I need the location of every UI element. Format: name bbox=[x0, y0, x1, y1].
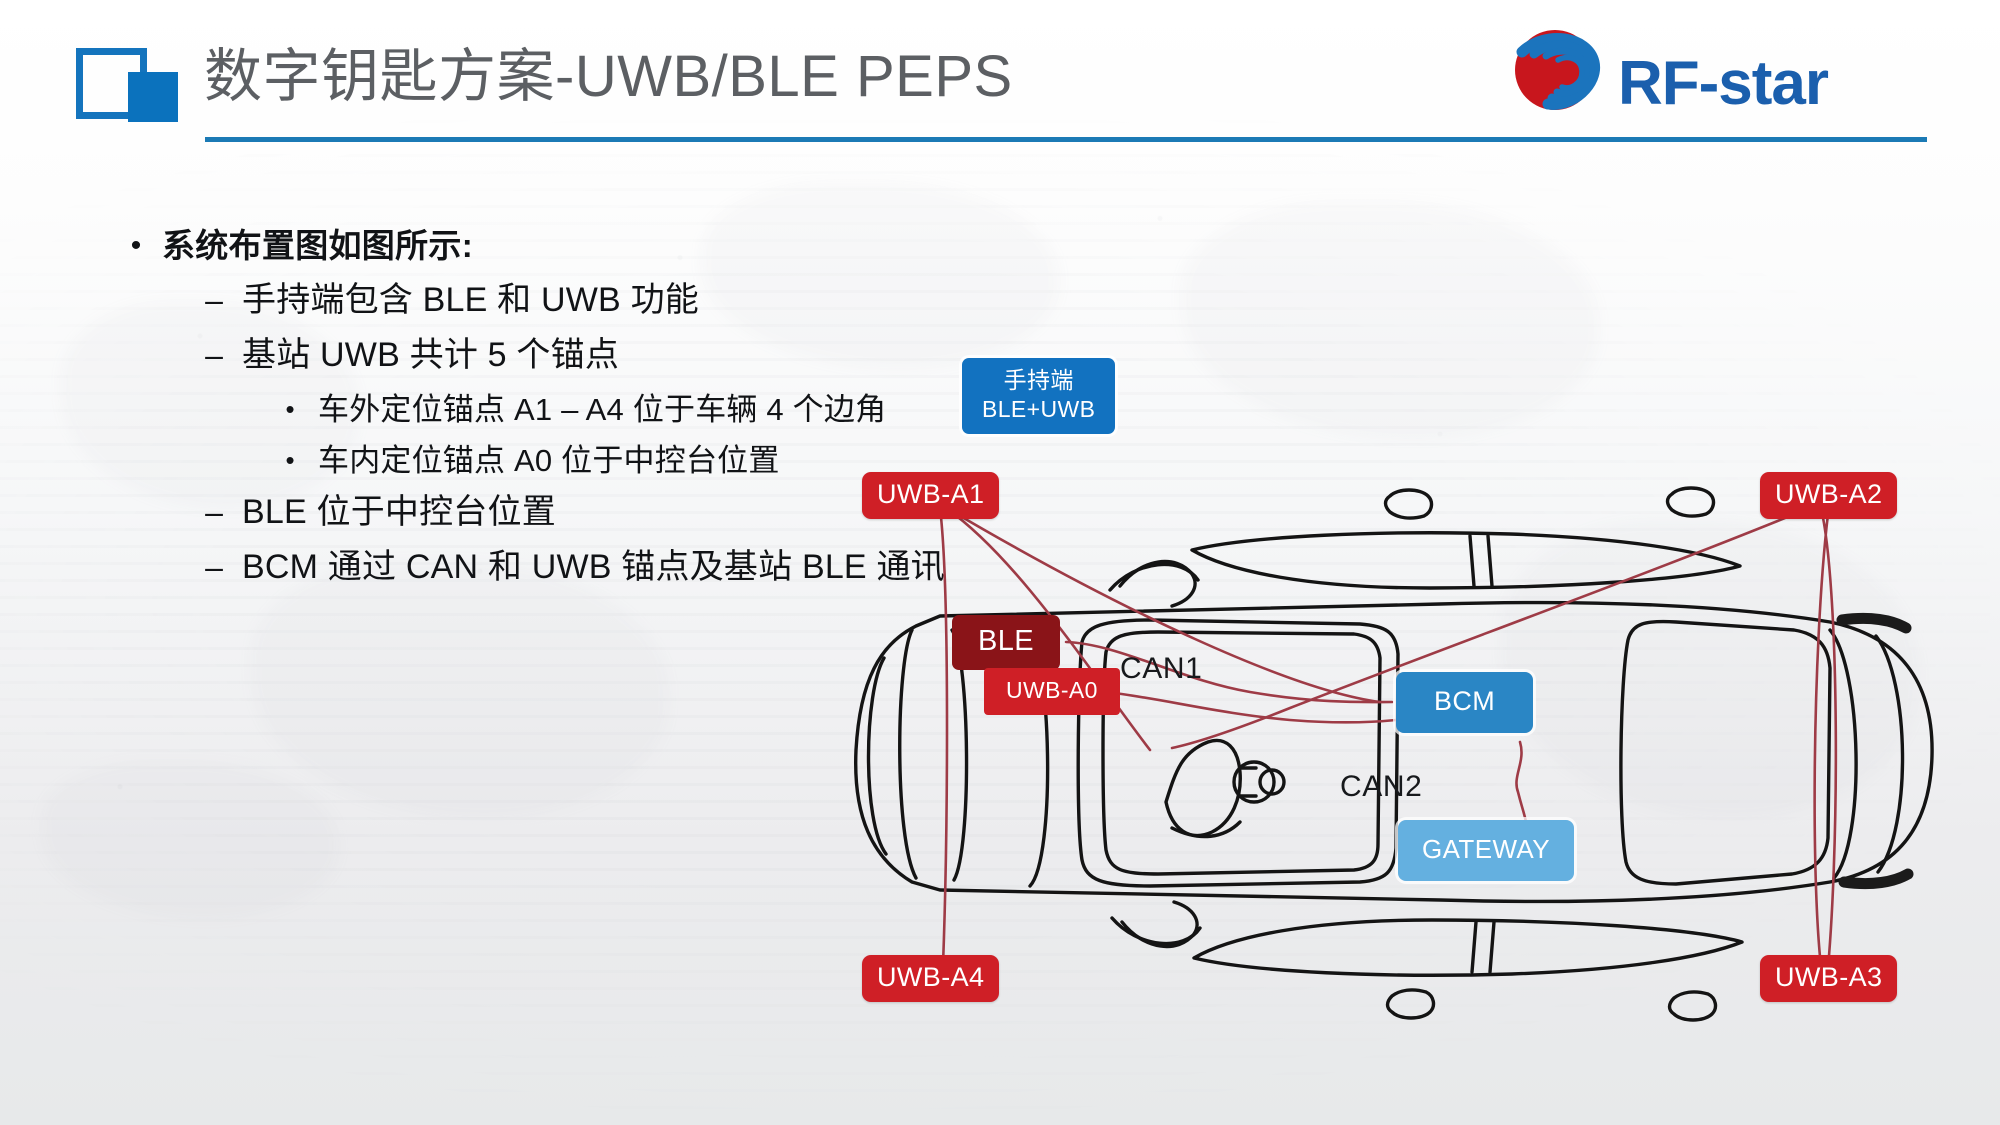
anchor-label: UWB-A2 bbox=[1775, 479, 1882, 510]
bullet-marker: – bbox=[186, 541, 242, 594]
watermark-blotch bbox=[250, 560, 670, 820]
gateway-module-box[interactable]: GATEWAY bbox=[1398, 820, 1574, 881]
bullet-marker: – bbox=[186, 329, 242, 382]
bus-line-a3-up bbox=[1815, 514, 1828, 988]
title-underline-rule bbox=[205, 137, 1927, 142]
bullet-marker: – bbox=[186, 486, 242, 539]
bullet-text: 基站 UWB 共计 5 个锚点 bbox=[242, 329, 619, 382]
bullet-item-level1: • 系统布置图如图所示: bbox=[110, 222, 1170, 270]
handheld-device-box[interactable]: 手持端 BLE+UWB bbox=[962, 358, 1115, 434]
anchor-box-uwb-a2[interactable]: UWB-A2 bbox=[1760, 472, 1897, 519]
bullet-text: BLE 位于中控台位置 bbox=[242, 486, 556, 539]
bcm-module-box[interactable]: BCM bbox=[1396, 672, 1533, 733]
vehicle-layout-diagram: 手持端 BLE+UWB UWB-A1 UWB-A2 UWB-A3 UWB-A4 … bbox=[820, 430, 1980, 1080]
gateway-label: GATEWAY bbox=[1422, 834, 1550, 865]
bus-line-can2-gateway bbox=[1516, 742, 1526, 822]
watermark-blotch bbox=[40, 760, 340, 920]
handheld-label-line1: 手持端 bbox=[1004, 366, 1074, 395]
anchor-label: UWB-A1 bbox=[877, 479, 984, 510]
bullet-text: 车内定位锚点 A0 位于中控台位置 bbox=[318, 435, 780, 486]
anchor-box-uwb-a3[interactable]: UWB-A3 bbox=[1760, 955, 1897, 1002]
handheld-label-line2: BLE+UWB bbox=[982, 395, 1095, 424]
bullet-marker: • bbox=[262, 384, 318, 435]
anchor-box-uwb-a0[interactable]: UWB-A0 bbox=[984, 668, 1120, 715]
page-title: 数字钥匙方案-UWB/BLE PEPS bbox=[204, 34, 1013, 120]
bullet-marker: – bbox=[186, 274, 242, 327]
bullet-marker: • bbox=[110, 222, 162, 270]
logo-wordmark-icon: RF-star bbox=[1618, 49, 1829, 118]
anchor-label: UWB-A4 bbox=[877, 962, 984, 993]
bcm-label: BCM bbox=[1434, 686, 1495, 717]
bullet-text: 车外定位锚点 A1 – A4 位于车辆 4 个边角 bbox=[318, 384, 886, 435]
svg-text:RF-star: RF-star bbox=[1618, 49, 1829, 118]
bus-label-can1: CAN1 bbox=[1120, 652, 1202, 686]
anchor-label: UWB-A3 bbox=[1775, 962, 1882, 993]
rf-star-logo: RF-star bbox=[1500, 22, 1870, 122]
anchor-label: UWB-A0 bbox=[1006, 677, 1098, 704]
anchor-box-uwb-a4[interactable]: UWB-A4 bbox=[862, 955, 999, 1002]
anchor-box-uwb-a1[interactable]: UWB-A1 bbox=[862, 472, 999, 519]
bullet-text: 系统布置图如图所示: bbox=[162, 222, 473, 270]
watermark-blotch bbox=[1180, 200, 1600, 440]
header-square-filled-icon bbox=[128, 72, 178, 122]
bullet-item-level2: – 手持端包含 BLE 和 UWB 功能 bbox=[186, 274, 1170, 327]
ble-module-box[interactable]: BLE bbox=[952, 615, 1060, 670]
ble-label: BLE bbox=[978, 625, 1034, 658]
bullet-marker: • bbox=[262, 435, 318, 486]
bus-label-can2: CAN2 bbox=[1340, 770, 1422, 804]
bus-line-a1-a4 bbox=[940, 508, 947, 990]
bullet-text: 手持端包含 BLE 和 UWB 功能 bbox=[242, 274, 699, 327]
slide-canvas: 数字钥匙方案-UWB/BLE PEPS RF-star • 系统布置图如图所示: bbox=[0, 0, 2000, 1125]
